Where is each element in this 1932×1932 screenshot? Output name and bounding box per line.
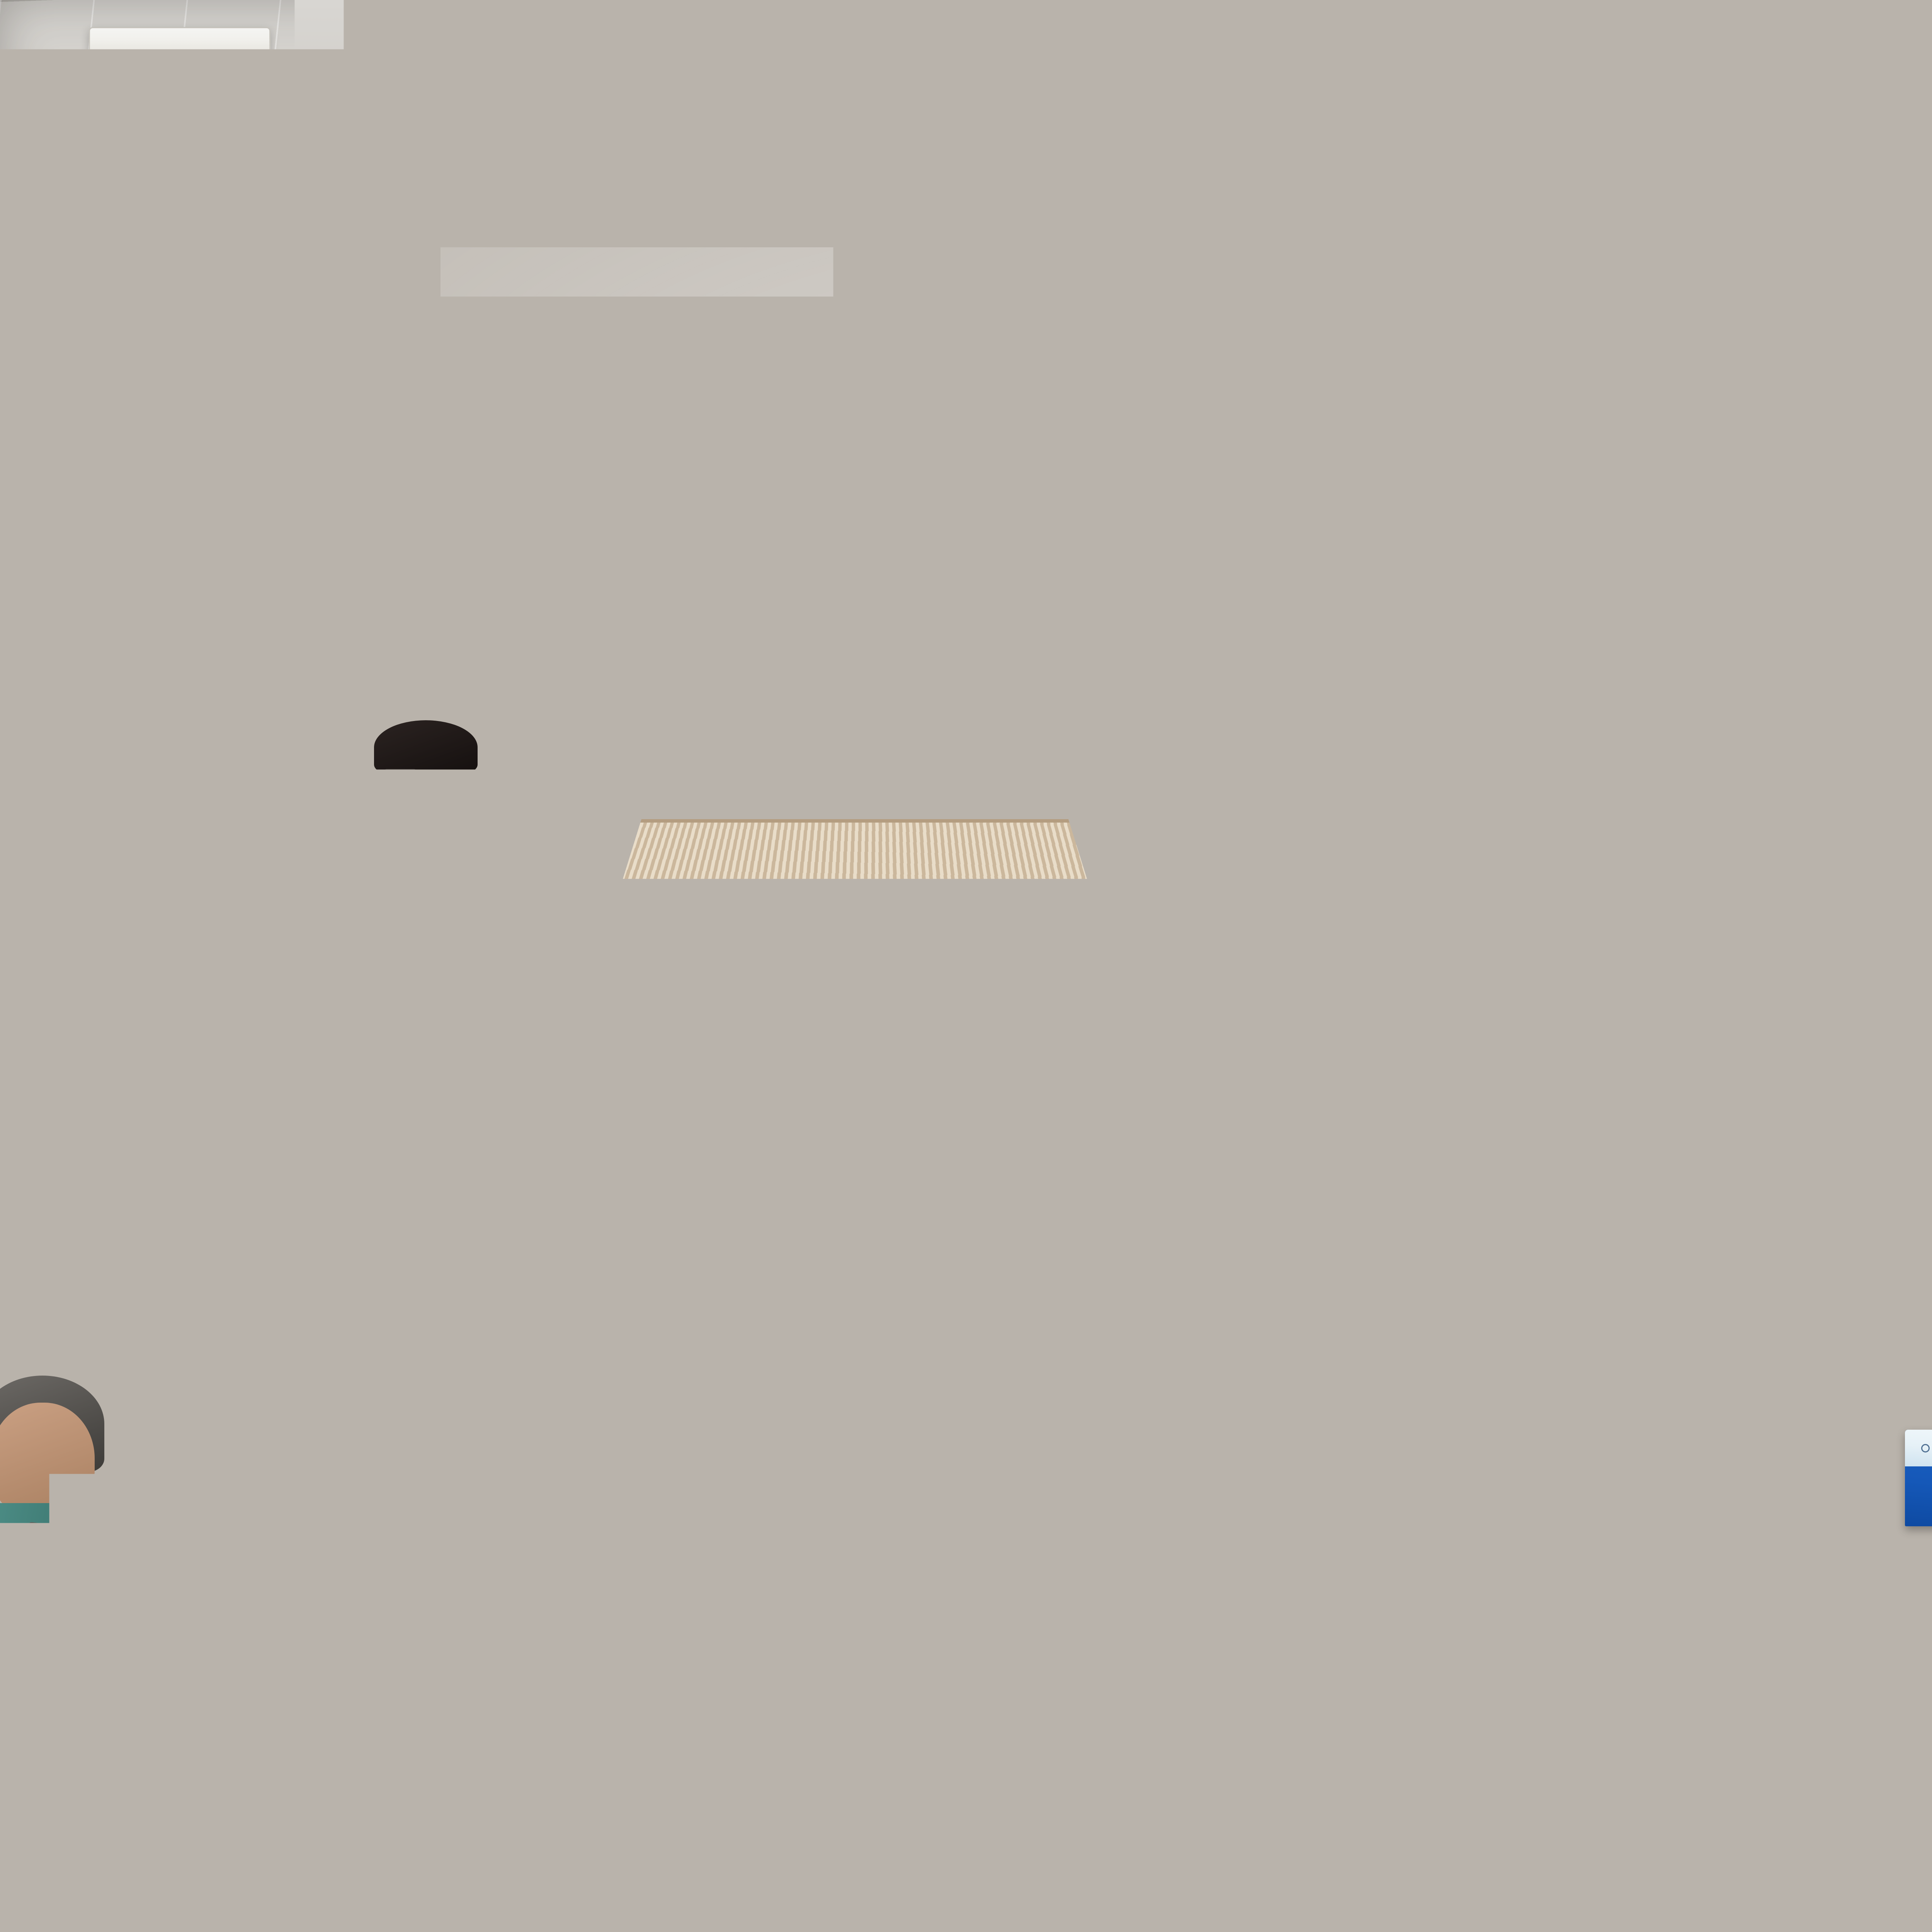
year-label: 1923 [988, 1086, 1095, 1138]
ceiling-vent-2 [1824, 70, 1932, 93]
smartphone[interactable] [1136, 1159, 1260, 1236]
lecture-hall-scene: 文 西北大学文学院 一、学院发展历史 陕西大学堂旧址 [0, 0, 1932, 1932]
audience-member-front-left [301, 1692, 835, 1932]
year-label: 1994 [1624, 1086, 1731, 1138]
ceiling-light-2 [587, 120, 788, 154]
torso [1515, 1832, 1932, 1932]
placard-org: 西北大学文学院 [265, 1578, 341, 1592]
node-label-line1: 西北大学 [1926, 1218, 1932, 1235]
ceiling-vent-1 [456, 46, 622, 72]
hair [1005, 1839, 1267, 1932]
plant-leaf [0, 894, 196, 986]
ceiling-light-1 [328, 112, 529, 148]
presentation-clicker[interactable] [339, 1173, 376, 1194]
title-underline [609, 659, 1932, 662]
audience-member-dark-suit [587, 1275, 858, 1739]
placard-logo-icon [403, 1452, 411, 1460]
audience-member-front-center [1530, 1553, 1932, 1932]
year-label: 1953 [1306, 1086, 1413, 1138]
placard-logo-icon [252, 1581, 260, 1589]
node-label-line1: 陕西大学堂 [637, 1218, 809, 1235]
glasses-icon [383, 769, 468, 789]
potted-plant [0, 703, 317, 1395]
monument-inscription: 作家摇篮 [1459, 791, 1492, 912]
photo-banner-text: 鲁迅先生 [1903, 780, 1932, 825]
photo-group-monument: 作家摇篮 被誉为“作家摇篮” [1189, 742, 1763, 1020]
projection-screen: 文 西北大学文学院 一、学院发展历史 陕西大学堂旧址 [440, 247, 1932, 1235]
torso [896, 1391, 1252, 1839]
timeline-chevron-1902: 1902 [556, 1076, 891, 1148]
photo-lu-xun-lecture: 鲁迅先生 1924年鲁迅先生应邀到西北大学讲学 [1828, 726, 1932, 1031]
placard-logo-icon [1921, 1444, 1930, 1452]
photo-historic-building: 陕西大学堂旧址 [553, 723, 1123, 1036]
audience-member-phone-filming [881, 1221, 1267, 1839]
placard-org: 西北大学文学院 [416, 1449, 492, 1463]
ceiling-light-5 [89, 27, 270, 57]
camera-mount-stem [1482, 182, 1487, 224]
screen-bevel [440, 247, 1932, 253]
head [1681, 1642, 1897, 1859]
node-label-line1: 西北大学 [1290, 1218, 1427, 1235]
slide-motto: 公 诚 勤 朴 [701, 1155, 922, 1197]
placard-name: 蒋 林 [1905, 1466, 1932, 1526]
plant-pot [116, 1213, 282, 1395]
torso [1437, 1294, 1785, 1519]
audience-member-white-shirt [1430, 1132, 1793, 1519]
ceiling-vent-3 [1538, 23, 1685, 43]
forearm [1151, 1267, 1209, 1395]
slide-photo-row: 陕西大学堂旧址 作家摇篮 被誉为“作家摇篮” 鲁迅先生 [553, 723, 1932, 1036]
audience-member-bottom-silhouette-1 [842, 1839, 1422, 1932]
slide-title: 一、学院发展历史 [609, 592, 1097, 676]
backpack-shoulder [124, 1770, 363, 1932]
presenter-hand-right [483, 1012, 545, 1078]
presenter-hair [374, 720, 478, 774]
name-placard-3: 西北大学文学院 蒋 林 [1905, 1430, 1932, 1526]
timeline-chevron-1923: 1923 [874, 1076, 1209, 1148]
head [0, 1403, 95, 1519]
year-label: 1902 [670, 1086, 777, 1138]
